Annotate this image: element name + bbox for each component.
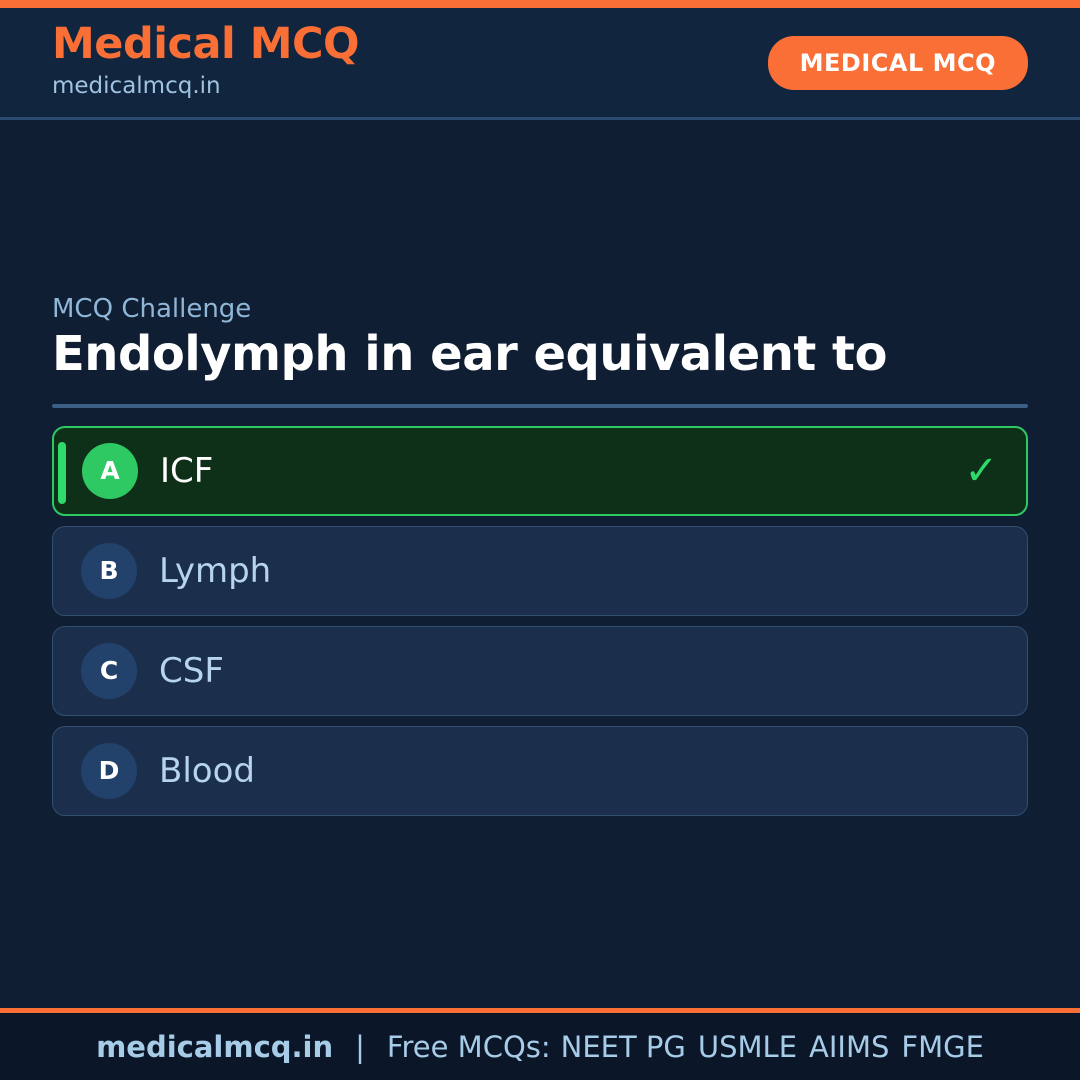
option-letter-badge: D [81,743,137,799]
brand-block: Medical MCQ medicalmcq.in [52,22,359,104]
option-label: Blood [159,751,255,791]
option-row[interactable]: BLymph [52,526,1028,616]
footer-site-url[interactable]: medicalmcq.in [96,1030,333,1064]
question-text: Endolymph in ear equivalent to [52,328,1028,382]
check-icon: ✓ [964,451,998,491]
brand-title: Medical MCQ [52,22,359,67]
brand-site-url: medicalmcq.in [52,69,359,104]
footer-exam-item[interactable]: AIIMS [809,1030,889,1064]
footer-exam-item[interactable]: FMGE [901,1030,984,1064]
footer-exam-item[interactable]: USMLE [698,1030,797,1064]
site-header: Medical MCQ medicalmcq.in MEDICAL MCQ [0,8,1080,120]
option-letter-badge: B [81,543,137,599]
poster-root: Medical MCQ medicalmcq.in MEDICAL MCQ MC… [0,0,1080,1080]
footer-exam-item[interactable]: NEET PG [561,1030,686,1064]
option-label: CSF [159,651,224,691]
kicker-label: MCQ Challenge [52,294,1028,324]
question-block: MCQ Challenge Endolymph in ear equivalen… [52,294,1028,816]
header-badge[interactable]: MEDICAL MCQ [768,36,1028,90]
option-row[interactable]: CCSF [52,626,1028,716]
footer-label: Free MCQs: [387,1030,551,1064]
option-letter-badge: C [81,643,137,699]
option-label: ICF [160,451,213,491]
question-divider [52,404,1028,408]
footer-separator: | [355,1030,365,1064]
site-footer: medicalmcq.in | Free MCQs: NEET PGUSMLEA… [0,1008,1080,1080]
option-label: Lymph [159,551,271,591]
main-content: MCQ Challenge Endolymph in ear equivalen… [0,120,1080,1008]
top-accent-strip [0,0,1080,8]
options-list: AICF✓BLymphCCSFDBlood [52,426,1028,816]
option-letter-badge: A [82,443,138,499]
footer-exam-list: NEET PGUSMLEAIIMSFMGE [561,1030,984,1064]
option-row[interactable]: AICF✓ [52,426,1028,516]
footer-inner: medicalmcq.in | Free MCQs: NEET PGUSMLEA… [96,1030,984,1064]
correct-accent-bar [58,442,66,504]
option-row[interactable]: DBlood [52,726,1028,816]
